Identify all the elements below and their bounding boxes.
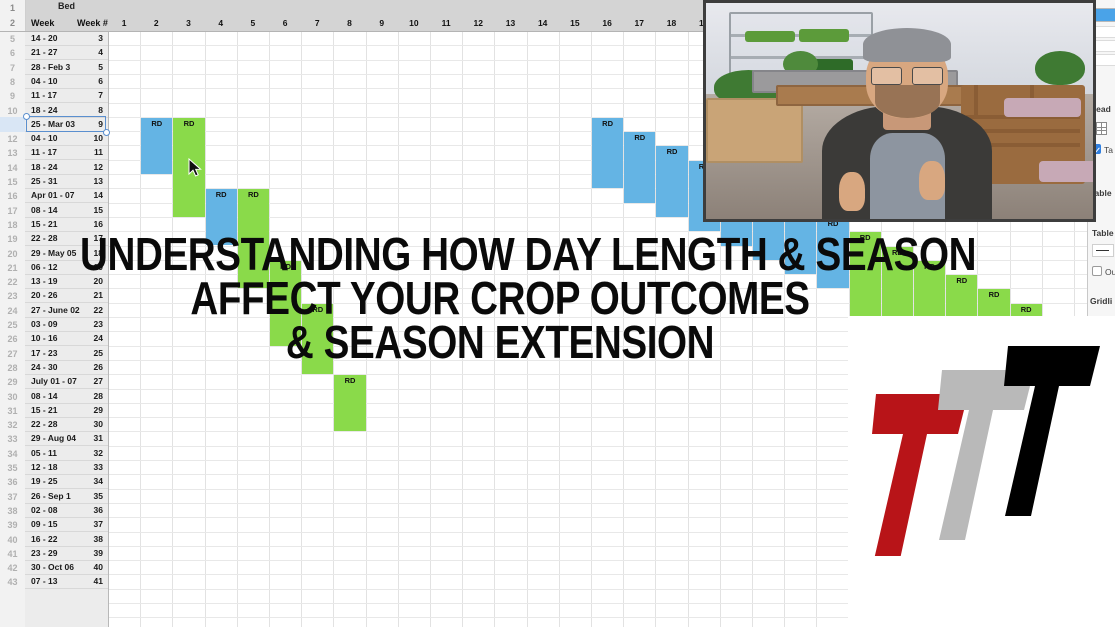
screen-root: 5678910111213141516171819202122232425262… bbox=[0, 0, 1115, 627]
bed-column-header-9[interactable]: 9 bbox=[366, 15, 398, 31]
bed-column-header-15[interactable]: 15 bbox=[559, 15, 591, 31]
table-outline-section-label: Table bbox=[1092, 228, 1114, 238]
week-header-label: Week bbox=[31, 15, 54, 31]
row-number-39[interactable]: 39 bbox=[0, 518, 25, 532]
title-line-1: UNDERSTANDING HOW DAY LENGTH & SEASON bbox=[80, 232, 920, 276]
row-number-18[interactable]: 18 bbox=[0, 218, 25, 232]
bed-column-header-1[interactable]: 1 bbox=[108, 15, 140, 31]
bar-label: RD bbox=[624, 132, 655, 144]
week-label: 16 - 22 bbox=[31, 532, 79, 546]
video-hand-left bbox=[839, 172, 865, 211]
schedule-bar-blue[interactable]: RD bbox=[141, 118, 172, 174]
row-number-8[interactable]: 8 bbox=[0, 75, 25, 89]
week-number: 7 bbox=[79, 88, 103, 102]
week-number: 3 bbox=[79, 31, 103, 45]
schedule-bar-green[interactable]: RD bbox=[334, 375, 365, 431]
label-row[interactable]: 04 - 1010 bbox=[25, 131, 108, 146]
line-style-selector[interactable] bbox=[1092, 244, 1114, 257]
bed-header-label: Bed bbox=[58, 1, 118, 11]
row-number-13[interactable]: 13 bbox=[0, 146, 25, 160]
week-label: 28 - Feb 3 bbox=[31, 60, 79, 74]
week-number: 37 bbox=[79, 517, 103, 531]
week-label: 04 - 10 bbox=[31, 131, 79, 145]
video-beard bbox=[875, 85, 940, 118]
row-number-43[interactable]: 43 bbox=[0, 575, 25, 589]
week-label: 18 - 24 bbox=[31, 103, 79, 117]
week-number: 36 bbox=[79, 503, 103, 517]
week-number: 14 bbox=[79, 188, 103, 202]
label-row[interactable]: 29 - Aug 0431 bbox=[25, 431, 108, 446]
video-glasses-left bbox=[871, 67, 902, 85]
week-number: 5 bbox=[79, 60, 103, 74]
bed-column-header-10[interactable]: 10 bbox=[398, 15, 430, 31]
week-label: 02 - 08 bbox=[31, 503, 79, 517]
week-number: 40 bbox=[79, 560, 103, 574]
row-number-33[interactable]: 33 bbox=[0, 432, 25, 446]
week-label: 29 - Aug 04 bbox=[31, 431, 79, 445]
week-label: 15 - 21 bbox=[31, 403, 79, 417]
title-line-2: AFFECT YOUR CROP OUTCOMES bbox=[80, 276, 920, 320]
label-row[interactable]: 23 - 2939 bbox=[25, 546, 108, 561]
outline-checkbox[interactable] bbox=[1092, 266, 1102, 276]
week-number: 39 bbox=[79, 546, 103, 560]
label-row[interactable]: 22 - 2830 bbox=[25, 417, 108, 432]
row-number-15[interactable]: 15 bbox=[0, 175, 25, 189]
video-beanie bbox=[863, 28, 952, 61]
week-number: 28 bbox=[79, 389, 103, 403]
label-row[interactable]: 07 - 1341 bbox=[25, 574, 108, 589]
week-label: 14 - 20 bbox=[31, 31, 79, 45]
week-label: 12 - 18 bbox=[31, 460, 79, 474]
row-number-2[interactable]: 2 bbox=[0, 16, 25, 30]
outline-checkbox-label: Ou bbox=[1105, 267, 1115, 277]
label-row[interactable]: 11 - 1711 bbox=[25, 145, 108, 160]
week-label: 18 - 24 bbox=[31, 160, 79, 174]
label-row[interactable]: 21 - 274 bbox=[25, 45, 108, 60]
bed-column-header-7[interactable]: 7 bbox=[301, 15, 333, 31]
week-label: 23 - 29 bbox=[31, 546, 79, 560]
label-row[interactable]: 28 - Feb 35 bbox=[25, 60, 108, 75]
week-label: 05 - 11 bbox=[31, 446, 79, 460]
label-row[interactable]: 14 - 203 bbox=[25, 31, 108, 46]
week-label: 04 - 10 bbox=[31, 74, 79, 88]
mouse-cursor-icon bbox=[188, 158, 202, 178]
row-number-6[interactable]: 6 bbox=[0, 46, 25, 60]
row-number-7[interactable]: 7 bbox=[0, 61, 25, 75]
label-row[interactable]: 30 - Oct 0640 bbox=[25, 560, 108, 575]
bar-label: RD bbox=[334, 375, 365, 387]
video-cushion-1 bbox=[1004, 98, 1081, 117]
label-row[interactable]: 18 - 2412 bbox=[25, 160, 108, 175]
logo-t-3 bbox=[1004, 346, 1100, 516]
schedule-bar-blue[interactable]: RD bbox=[656, 146, 687, 217]
bed-column-header-16[interactable]: 16 bbox=[591, 15, 623, 31]
label-row[interactable]: 15 - 2129 bbox=[25, 403, 108, 418]
week-number: 6 bbox=[79, 74, 103, 88]
row-number-41[interactable]: 41 bbox=[0, 547, 25, 561]
week-label: 15 - 21 bbox=[31, 217, 79, 231]
selected-row-highlight bbox=[0, 117, 25, 132]
row-number-16[interactable]: 16 bbox=[0, 189, 25, 203]
label-row[interactable]: 11 - 177 bbox=[25, 88, 108, 103]
video-presenter bbox=[822, 25, 992, 219]
row-number-34[interactable]: 34 bbox=[0, 447, 25, 461]
row-number-32[interactable]: 32 bbox=[0, 418, 25, 432]
label-row[interactable]: 08 - 1415 bbox=[25, 203, 108, 218]
label-row[interactable]: July 01 - 0727 bbox=[25, 374, 108, 389]
row-number-1[interactable]: 1 bbox=[0, 1, 25, 15]
row-number-12[interactable]: 12 bbox=[0, 132, 25, 146]
bed-column-header-14[interactable]: 14 bbox=[527, 15, 559, 31]
row-number-37[interactable]: 37 bbox=[0, 490, 25, 504]
row-number-31[interactable]: 31 bbox=[0, 404, 25, 418]
row-number-36[interactable]: 36 bbox=[0, 475, 25, 489]
week-number: 38 bbox=[79, 532, 103, 546]
schedule-bar-blue[interactable]: RD bbox=[624, 132, 655, 203]
week-number: 33 bbox=[79, 460, 103, 474]
week-number: 4 bbox=[79, 45, 103, 59]
bed-column-header-17[interactable]: 17 bbox=[623, 15, 655, 31]
video-shrub-right bbox=[1035, 51, 1085, 86]
bed-column-header-11[interactable]: 11 bbox=[430, 15, 462, 31]
week-number: 27 bbox=[79, 374, 103, 388]
label-row[interactable]: Apr 01 - 0714 bbox=[25, 188, 108, 203]
week-label: July 01 - 07 bbox=[31, 374, 79, 388]
bar-label: RD bbox=[656, 146, 687, 158]
label-row[interactable]: 02 - 0836 bbox=[25, 503, 108, 518]
week-number: 30 bbox=[79, 417, 103, 431]
row-number-38[interactable]: 38 bbox=[0, 504, 25, 518]
week-label: 11 - 17 bbox=[31, 145, 79, 159]
label-row[interactable]: 26 - Sep 135 bbox=[25, 489, 108, 504]
week-number: 32 bbox=[79, 446, 103, 460]
week-label: 26 - Sep 1 bbox=[31, 489, 79, 503]
week-number: 35 bbox=[79, 489, 103, 503]
bar-label: RD bbox=[592, 118, 623, 130]
bed-column-header-8[interactable]: 8 bbox=[333, 15, 365, 31]
selection-handle-topleft[interactable] bbox=[23, 113, 30, 120]
week-label: 22 - 28 bbox=[31, 417, 79, 431]
week-number: 12 bbox=[79, 160, 103, 174]
week-number: 41 bbox=[79, 574, 103, 588]
row-number-42[interactable]: 42 bbox=[0, 561, 25, 575]
week-number: 10 bbox=[79, 131, 103, 145]
label-row[interactable]: 16 - 2238 bbox=[25, 532, 108, 547]
label-row[interactable]: 08 - 1428 bbox=[25, 389, 108, 404]
week-label: 08 - 14 bbox=[31, 203, 79, 217]
row-number-29[interactable]: 29 bbox=[0, 375, 25, 389]
bar-label: RD bbox=[173, 118, 204, 130]
row-number-9[interactable]: 9 bbox=[0, 89, 25, 103]
week-label: 07 - 13 bbox=[31, 574, 79, 588]
bed-column-header-6[interactable]: 6 bbox=[269, 15, 301, 31]
bar-label: RD bbox=[206, 189, 237, 201]
week-label: Apr 01 - 07 bbox=[31, 188, 79, 202]
label-row[interactable]: 09 - 1537 bbox=[25, 517, 108, 532]
bar-label: RD bbox=[141, 118, 172, 130]
gridlines-label: Gridli bbox=[1090, 296, 1112, 306]
video-cushion-2 bbox=[1039, 161, 1096, 183]
three-t-logo-icon bbox=[848, 316, 1115, 556]
label-row[interactable]: 19 - 2534 bbox=[25, 474, 108, 489]
schedule-bar-blue[interactable]: RD bbox=[592, 118, 623, 189]
week-label: 21 - 27 bbox=[31, 45, 79, 59]
row-number-14[interactable]: 14 bbox=[0, 161, 25, 175]
row-number-5[interactable]: 5 bbox=[0, 32, 25, 46]
week-label: 11 - 17 bbox=[31, 88, 79, 102]
weeknum-header-label: Week # bbox=[77, 15, 108, 31]
week-number: 29 bbox=[79, 403, 103, 417]
row-number-10[interactable]: 10 bbox=[0, 104, 25, 118]
row-number-40[interactable]: 40 bbox=[0, 533, 25, 547]
label-row[interactable]: 05 - 1132 bbox=[25, 446, 108, 461]
week-number: 31 bbox=[79, 431, 103, 445]
week-number: 13 bbox=[79, 174, 103, 188]
label-row[interactable]: 04 - 106 bbox=[25, 74, 108, 89]
row-number-35[interactable]: 35 bbox=[0, 461, 25, 475]
row-number-30[interactable]: 30 bbox=[0, 390, 25, 404]
bed-column-header-12[interactable]: 12 bbox=[462, 15, 494, 31]
label-row[interactable]: 25 - 3113 bbox=[25, 174, 108, 189]
week-number: 34 bbox=[79, 474, 103, 488]
week-label: 19 - 25 bbox=[31, 474, 79, 488]
bed-column-header-5[interactable]: 5 bbox=[237, 15, 269, 31]
week-number: 8 bbox=[79, 103, 103, 117]
video-planter-box-left bbox=[706, 98, 803, 162]
week-label: 30 - Oct 06 bbox=[31, 560, 79, 574]
week-label: 09 - 15 bbox=[31, 517, 79, 531]
row-number-17[interactable]: 17 bbox=[0, 204, 25, 218]
bed-column-header-3[interactable]: 3 bbox=[172, 15, 204, 31]
table-name-checkbox-label: Ta bbox=[1104, 145, 1113, 155]
video-glasses-right bbox=[912, 67, 943, 85]
brand-logo bbox=[848, 316, 1115, 627]
title-line-3: & SEASON EXTENSION bbox=[80, 320, 920, 364]
bed-column-header-4[interactable]: 4 bbox=[205, 15, 237, 31]
bed-column-header-18[interactable]: 18 bbox=[655, 15, 687, 31]
bar-label: RD bbox=[238, 189, 269, 201]
bed-column-header-2[interactable]: 2 bbox=[140, 15, 172, 31]
week-label: 08 - 14 bbox=[31, 389, 79, 403]
video-hand-right bbox=[919, 161, 945, 200]
selected-cell-outline[interactable] bbox=[26, 116, 106, 132]
video-seed-tray-1 bbox=[745, 31, 795, 42]
label-row[interactable]: 12 - 1833 bbox=[25, 460, 108, 475]
bar-label: RD bbox=[1011, 304, 1042, 316]
bed-column-header-13[interactable]: 13 bbox=[494, 15, 526, 31]
selection-handle-bottomright[interactable] bbox=[103, 129, 110, 136]
week-number: 11 bbox=[79, 145, 103, 159]
week-number: 15 bbox=[79, 203, 103, 217]
week-label: 25 - 31 bbox=[31, 174, 79, 188]
presenter-video-inset[interactable] bbox=[703, 0, 1096, 222]
